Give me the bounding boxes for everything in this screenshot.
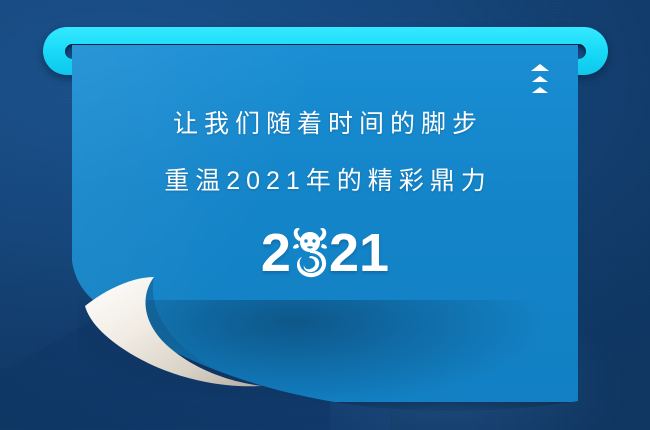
- year-digit-3: 1: [359, 226, 389, 280]
- page-curl: [84, 276, 264, 388]
- up-arrow-icon-3: [532, 87, 548, 93]
- year-digit-1: 2: [261, 226, 291, 280]
- year-digit-2: 2: [329, 226, 359, 280]
- up-arrow-icon-1: [531, 64, 549, 71]
- headline-block: 让我们随着时间的脚步 重温2021年的精彩鼎力: [72, 112, 578, 194]
- headline-line-2: 重温2021年的精彩鼎力: [72, 169, 578, 194]
- headline-line-1: 让我们随着时间的脚步: [72, 112, 578, 137]
- year-logo: 2: [72, 222, 578, 284]
- up-arrow-icon-2: [532, 76, 548, 82]
- ox-head-icon: [290, 226, 330, 280]
- up-arrows-group: [524, 64, 556, 112]
- poster-canvas: 让我们随着时间的脚步 重温2021年的精彩鼎力 2: [0, 0, 650, 430]
